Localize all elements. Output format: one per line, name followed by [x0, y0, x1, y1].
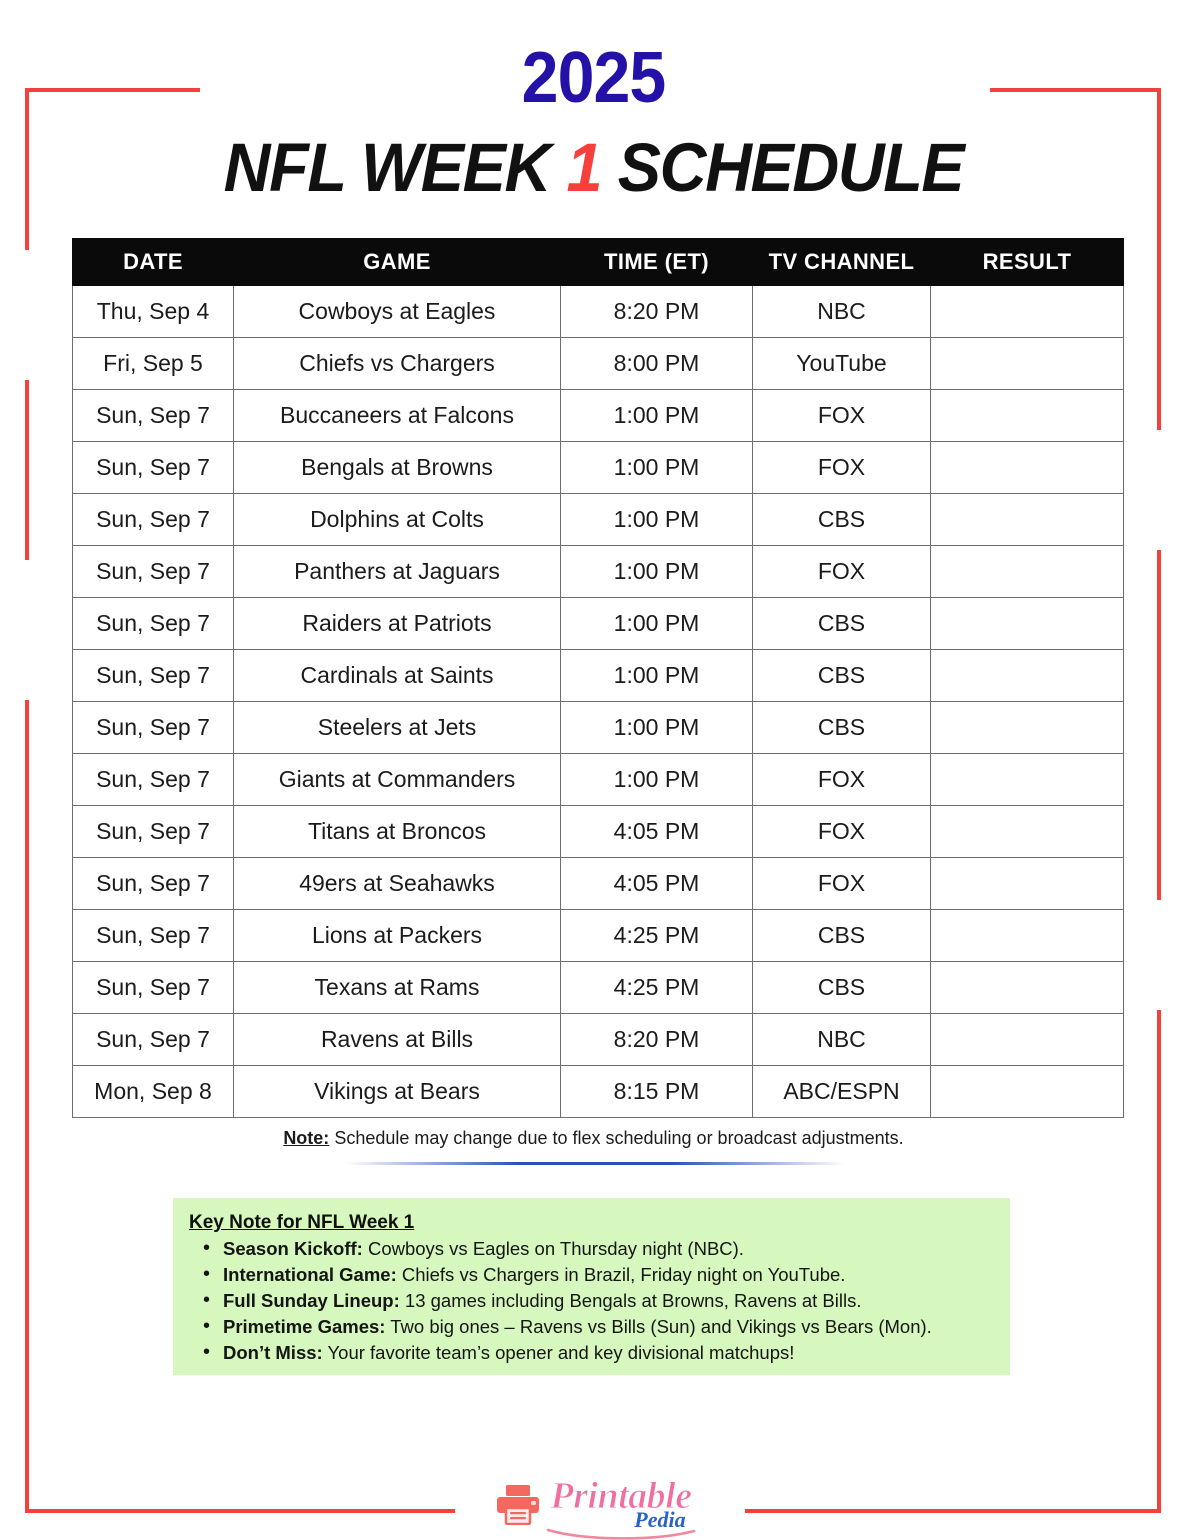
schedule-note-text: Schedule may change due to flex scheduli…: [329, 1128, 903, 1148]
table-row: Sun, Sep 7Lions at Packers4:25 PMCBS: [73, 910, 1124, 962]
cell-game: Cardinals at Saints: [234, 650, 561, 702]
cell-game: Cowboys at Eagles: [234, 286, 561, 338]
cell-date: Sun, Sep 7: [73, 910, 234, 962]
cell-game: 49ers at Seahawks: [234, 858, 561, 910]
cell-result: [931, 338, 1124, 390]
table-row: Fri, Sep 5Chiefs vs Chargers8:00 PMYouTu…: [73, 338, 1124, 390]
cell-date: Sun, Sep 7: [73, 442, 234, 494]
cell-date: Sun, Sep 7: [73, 1014, 234, 1066]
cell-tv-channel: CBS: [753, 494, 931, 546]
cell-result: [931, 546, 1124, 598]
table-row: Mon, Sep 8Vikings at Bears8:15 PMABC/ESP…: [73, 1066, 1124, 1118]
page-title-post: SCHEDULE: [601, 129, 963, 206]
cell-game: Texans at Rams: [234, 962, 561, 1014]
cell-result: [931, 390, 1124, 442]
cell-tv-channel: FOX: [753, 546, 931, 598]
cell-tv-channel: FOX: [753, 806, 931, 858]
cell-date: Sun, Sep 7: [73, 650, 234, 702]
title-year: 2025: [47, 40, 1139, 116]
cell-game: Steelers at Jets: [234, 702, 561, 754]
cell-time: 1:00 PM: [561, 390, 753, 442]
cell-time: 8:00 PM: [561, 338, 753, 390]
cell-time: 4:25 PM: [561, 910, 753, 962]
frame-mask-left-top: [0, 250, 34, 380]
cell-result: [931, 1014, 1124, 1066]
cell-date: Sun, Sep 7: [73, 546, 234, 598]
cell-game: Vikings at Bears: [234, 1066, 561, 1118]
frame-mask-left-mid: [0, 560, 34, 700]
cell-tv-channel: CBS: [753, 910, 931, 962]
cell-date: Sun, Sep 7: [73, 806, 234, 858]
cell-game: Giants at Commanders: [234, 754, 561, 806]
cell-result: [931, 754, 1124, 806]
table-header-row: DATE GAME TIME (ET) TV CHANNEL RESULT: [73, 239, 1124, 286]
cell-tv-channel: CBS: [753, 650, 931, 702]
cell-time: 1:00 PM: [561, 494, 753, 546]
column-header-time: TIME (ET): [561, 239, 753, 286]
page-title-week-number: 1: [567, 129, 602, 206]
footer-logo: Printable Pedia: [0, 1477, 1187, 1531]
cell-tv-channel: CBS: [753, 962, 931, 1014]
key-note-item-text: Chiefs vs Chargers in Brazil, Friday nig…: [397, 1264, 846, 1285]
cell-tv-channel: FOX: [753, 442, 931, 494]
table-row: Sun, Sep 7Buccaneers at Falcons1:00 PMFO…: [73, 390, 1124, 442]
table-row: Thu, Sep 4Cowboys at Eagles8:20 PMNBC: [73, 286, 1124, 338]
cell-tv-channel: CBS: [753, 702, 931, 754]
cell-result: [931, 806, 1124, 858]
cell-date: Sun, Sep 7: [73, 962, 234, 1014]
cell-tv-channel: FOX: [753, 754, 931, 806]
cell-game: Titans at Broncos: [234, 806, 561, 858]
cell-result: [931, 910, 1124, 962]
cell-result: [931, 494, 1124, 546]
cell-time: 8:20 PM: [561, 286, 753, 338]
cell-game: Dolphins at Colts: [234, 494, 561, 546]
cell-date: Thu, Sep 4: [73, 286, 234, 338]
cell-game: Bengals at Browns: [234, 442, 561, 494]
table-row: Sun, Sep 7Ravens at Bills8:20 PMNBC: [73, 1014, 1124, 1066]
cell-time: 1:00 PM: [561, 702, 753, 754]
cell-tv-channel: NBC: [753, 1014, 931, 1066]
cell-result: [931, 442, 1124, 494]
page-title: NFL WEEK 1 SCHEDULE: [36, 128, 1152, 208]
key-note-item-text: Your favorite team’s opener and key divi…: [323, 1342, 795, 1363]
column-header-tv: TV CHANNEL: [753, 239, 931, 286]
cell-result: [931, 598, 1124, 650]
key-note-item: Don’t Miss: Your favorite team’s opener …: [223, 1340, 1010, 1366]
table-row: Sun, Sep 7Titans at Broncos4:05 PMFOX: [73, 806, 1124, 858]
table-row: Sun, Sep 7Raiders at Patriots1:00 PMCBS: [73, 598, 1124, 650]
table-row: Sun, Sep 7Giants at Commanders1:00 PMFOX: [73, 754, 1124, 806]
column-header-result: RESULT: [931, 239, 1124, 286]
cell-result: [931, 1066, 1124, 1118]
table-row: Sun, Sep 7Texans at Rams4:25 PMCBS: [73, 962, 1124, 1014]
key-note-item-label: Season Kickoff:: [223, 1238, 363, 1259]
cell-time: 4:05 PM: [561, 806, 753, 858]
key-note-title: Key Note for NFL Week 1: [189, 1212, 1010, 1234]
cell-tv-channel: YouTube: [753, 338, 931, 390]
cell-date: Mon, Sep 8: [73, 1066, 234, 1118]
cell-game: Chiefs vs Chargers: [234, 338, 561, 390]
cell-time: 1:00 PM: [561, 650, 753, 702]
key-note-item-label: International Game:: [223, 1264, 397, 1285]
cell-game: Buccaneers at Falcons: [234, 390, 561, 442]
cell-time: 8:20 PM: [561, 1014, 753, 1066]
key-note-item-text: 13 games including Bengals at Browns, Ra…: [400, 1290, 862, 1311]
cell-result: [931, 650, 1124, 702]
printer-icon: [495, 1483, 541, 1525]
cell-game: Ravens at Bills: [234, 1014, 561, 1066]
page-title-pre: NFL WEEK: [224, 129, 567, 206]
cell-tv-channel: NBC: [753, 286, 931, 338]
cell-date: Sun, Sep 7: [73, 858, 234, 910]
cell-time: 8:15 PM: [561, 1066, 753, 1118]
frame-mask-right-mid: [1150, 430, 1187, 550]
table-row: Sun, Sep 7Panthers at Jaguars1:00 PMFOX: [73, 546, 1124, 598]
cell-date: Sun, Sep 7: [73, 702, 234, 754]
cell-date: Sun, Sep 7: [73, 754, 234, 806]
key-note-list: Season Kickoff: Cowboys vs Eagles on Thu…: [187, 1236, 1010, 1366]
cell-result: [931, 858, 1124, 910]
note-divider-rule: [345, 1162, 845, 1165]
table-row: Sun, Sep 7Steelers at Jets1:00 PMCBS: [73, 702, 1124, 754]
cell-date: Sun, Sep 7: [73, 598, 234, 650]
cell-time: 1:00 PM: [561, 546, 753, 598]
cell-time: 4:25 PM: [561, 962, 753, 1014]
column-header-game: GAME: [234, 239, 561, 286]
cell-result: [931, 286, 1124, 338]
column-header-date: DATE: [73, 239, 234, 286]
schedule-note: Note: Schedule may change due to flex sc…: [0, 1128, 1187, 1149]
cell-result: [931, 702, 1124, 754]
key-note-item: International Game: Chiefs vs Chargers i…: [223, 1262, 1010, 1288]
schedule-note-label: Note:: [283, 1128, 329, 1148]
key-note-item-text: Cowboys vs Eagles on Thursday night (NBC…: [363, 1238, 744, 1259]
cell-time: 4:05 PM: [561, 858, 753, 910]
schedule-table-container: DATE GAME TIME (ET) TV CHANNEL RESULT Th…: [72, 238, 1123, 1118]
key-note-box: Key Note for NFL Week 1 Season Kickoff: …: [173, 1198, 1010, 1375]
table-row: Sun, Sep 7Bengals at Browns1:00 PMFOX: [73, 442, 1124, 494]
cell-tv-channel: CBS: [753, 598, 931, 650]
cell-time: 1:00 PM: [561, 598, 753, 650]
cell-game: Panthers at Jaguars: [234, 546, 561, 598]
key-note-item-text: Two big ones – Ravens vs Bills (Sun) and…: [385, 1316, 931, 1337]
table-row: Sun, Sep 7Dolphins at Colts1:00 PMCBS: [73, 494, 1124, 546]
key-note-item: Full Sunday Lineup: 13 games including B…: [223, 1288, 1010, 1314]
cell-tv-channel: FOX: [753, 390, 931, 442]
key-note-item: Primetime Games: Two big ones – Ravens v…: [223, 1314, 1010, 1340]
logo-text: Printable Pedia: [550, 1477, 691, 1531]
cell-date: Sun, Sep 7: [73, 390, 234, 442]
cell-time: 1:00 PM: [561, 442, 753, 494]
cell-result: [931, 962, 1124, 1014]
frame-mask-right-low: [1150, 900, 1187, 1010]
table-row: Sun, Sep 749ers at Seahawks4:05 PMFOX: [73, 858, 1124, 910]
cell-date: Fri, Sep 5: [73, 338, 234, 390]
page-header: 2025 NFL WEEK 1 SCHEDULE: [0, 0, 1187, 208]
key-note-item-label: Don’t Miss:: [223, 1342, 323, 1363]
key-note-item-label: Primetime Games:: [223, 1316, 385, 1337]
key-note-item: Season Kickoff: Cowboys vs Eagles on Thu…: [223, 1236, 1010, 1262]
cell-time: 1:00 PM: [561, 754, 753, 806]
key-note-item-label: Full Sunday Lineup:: [223, 1290, 400, 1311]
cell-game: Lions at Packers: [234, 910, 561, 962]
table-row: Sun, Sep 7Cardinals at Saints1:00 PMCBS: [73, 650, 1124, 702]
cell-date: Sun, Sep 7: [73, 494, 234, 546]
schedule-table: DATE GAME TIME (ET) TV CHANNEL RESULT Th…: [72, 238, 1124, 1118]
cell-tv-channel: FOX: [753, 858, 931, 910]
cell-tv-channel: ABC/ESPN: [753, 1066, 931, 1118]
cell-game: Raiders at Patriots: [234, 598, 561, 650]
